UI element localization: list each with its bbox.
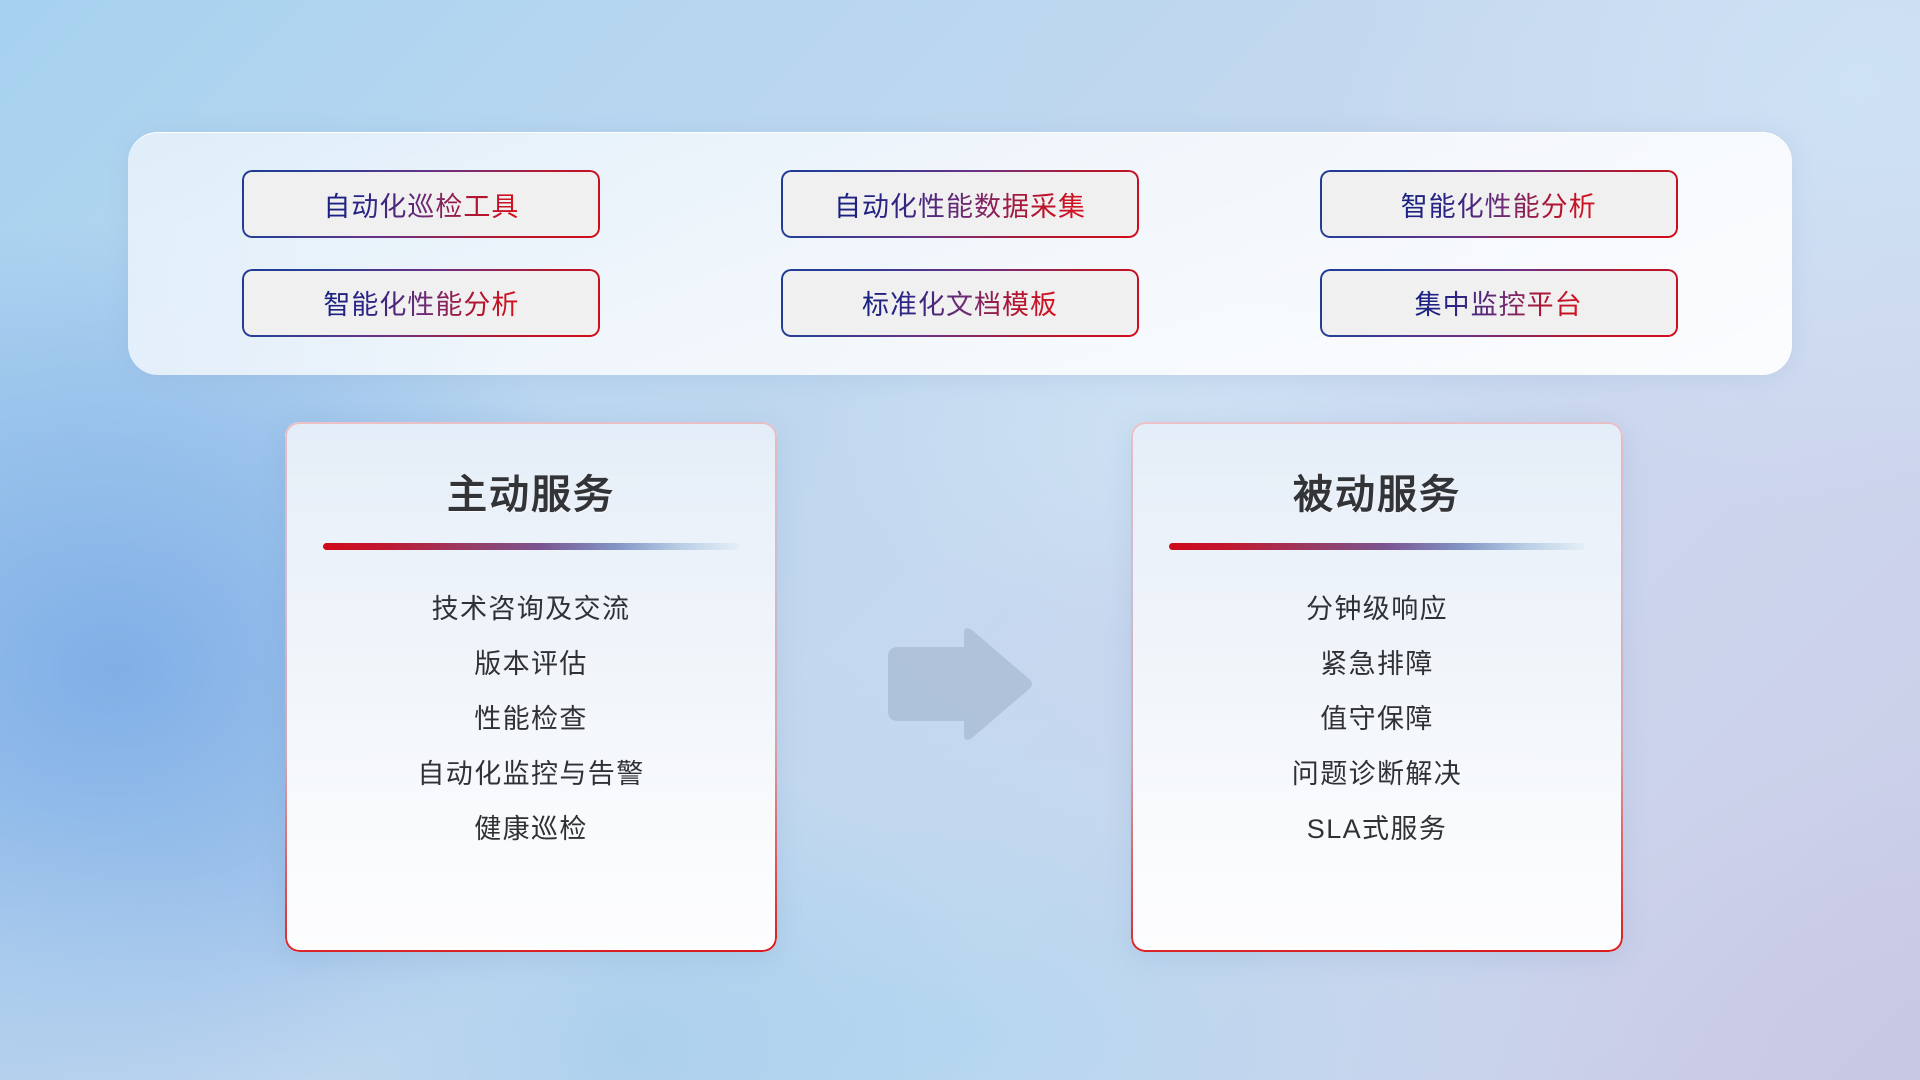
tag-smart-perf-analysis-2[interactable]: 智能化性能分析 xyxy=(242,269,600,337)
proactive-service-card: 主动服务 技术咨询及交流 版本评估 性能检查 自动化监控与告警 健康巡检 xyxy=(285,422,777,952)
card-title-divider xyxy=(323,543,739,550)
tag-central-monitor[interactable]: 集中监控平台 xyxy=(1320,269,1678,337)
tag-standard-doc-template[interactable]: 标准化文档模板 xyxy=(781,269,1139,337)
tag-label: 智能化性能分析 xyxy=(323,283,519,322)
tag-auto-inspection-tool[interactable]: 自动化巡检工具 xyxy=(242,170,600,238)
capability-tag-panel: 自动化巡检工具 自动化性能数据采集 智能化性能分析 智能化性能分析 标准化文档模… xyxy=(128,132,1792,375)
card-title: 被动服务 xyxy=(1161,462,1593,520)
tag-label: 集中监控平台 xyxy=(1415,283,1583,322)
tag-label: 标准化文档模板 xyxy=(862,283,1058,322)
tag-auto-perf-collection[interactable]: 自动化性能数据采集 xyxy=(781,170,1139,238)
reactive-service-card: 被动服务 分钟级响应 紧急排障 值守保障 问题诊断解决 SLA式服务 xyxy=(1131,422,1623,952)
arrow-right-icon xyxy=(878,625,1034,743)
card-title: 主动服务 xyxy=(315,462,747,520)
list-item: 分钟级响应 xyxy=(1306,582,1448,637)
card-title-divider xyxy=(1169,543,1585,550)
tag-smart-perf-analysis-1[interactable]: 智能化性能分析 xyxy=(1320,170,1678,238)
slide-canvas: 自动化巡检工具 自动化性能数据采集 智能化性能分析 智能化性能分析 标准化文档模… xyxy=(0,0,1920,1080)
list-item: 值守保障 xyxy=(1320,692,1434,747)
tag-label: 自动化性能数据采集 xyxy=(834,185,1086,224)
list-item: 健康巡检 xyxy=(474,802,588,857)
list-item: 紧急排障 xyxy=(1320,637,1434,692)
list-item: 性能检查 xyxy=(474,692,588,747)
tag-label: 智能化性能分析 xyxy=(1401,185,1597,224)
tag-label: 自动化巡检工具 xyxy=(323,185,519,224)
list-item: 技术咨询及交流 xyxy=(432,582,631,637)
reactive-service-list: 分钟级响应 紧急排障 值守保障 问题诊断解决 SLA式服务 xyxy=(1161,582,1593,930)
list-item: 版本评估 xyxy=(474,637,588,692)
list-item: SLA式服务 xyxy=(1307,802,1447,857)
list-item: 自动化监控与告警 xyxy=(417,747,644,802)
list-item: 问题诊断解决 xyxy=(1292,747,1462,802)
proactive-service-list: 技术咨询及交流 版本评估 性能检查 自动化监控与告警 健康巡检 xyxy=(315,582,747,930)
